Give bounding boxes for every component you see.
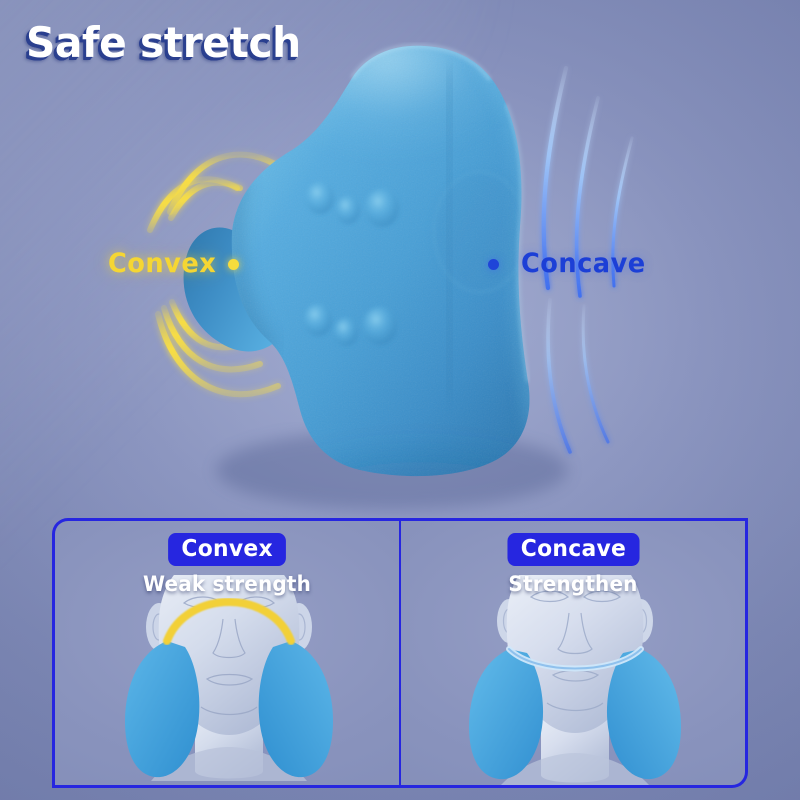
panel-concave-badge: Concave (507, 533, 639, 566)
pillow-wing-right (607, 649, 681, 779)
comparison-panels: Convex Weak strength (52, 518, 748, 788)
panel-convex[interactable]: Convex Weak strength (52, 518, 400, 788)
concave-dot-marker (488, 259, 499, 270)
poster-canvas: Convex Concave Safe stretch Convex Weak … (0, 0, 800, 800)
hero-section: Convex Concave (0, 0, 800, 520)
panel-convex-figure (55, 575, 400, 785)
panel-convex-subtitle: Weak strength (64, 572, 391, 596)
panel-convex-header: Convex Weak strength (55, 533, 399, 596)
panel-concave[interactable]: Concave Strengthen (400, 518, 748, 788)
panel-convex-badge: Convex (168, 533, 286, 566)
concave-label: Concave (521, 248, 646, 279)
panel-concave-figure (401, 575, 748, 785)
convex-label: Convex (108, 248, 216, 279)
pillow-wing-left (469, 649, 543, 779)
panel-concave-header: Concave Strengthen (401, 533, 745, 596)
convex-dot-marker (228, 259, 239, 270)
page-title: Safe stretch (26, 18, 301, 67)
panel-concave-subtitle: Strengthen (410, 572, 737, 596)
